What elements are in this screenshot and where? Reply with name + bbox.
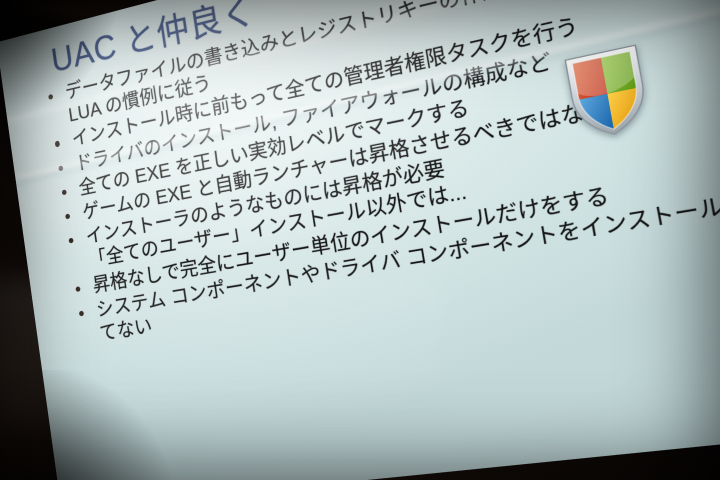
windows-security-shield-icon bbox=[561, 40, 655, 143]
corner-shadow-top-left bbox=[0, 0, 120, 120]
corner-shadow-bottom-left bbox=[0, 370, 180, 480]
photo-canvas: UAC と仲良く データファイルの書き込みとレジストリキーの作成に関して、 LU… bbox=[0, 0, 720, 480]
